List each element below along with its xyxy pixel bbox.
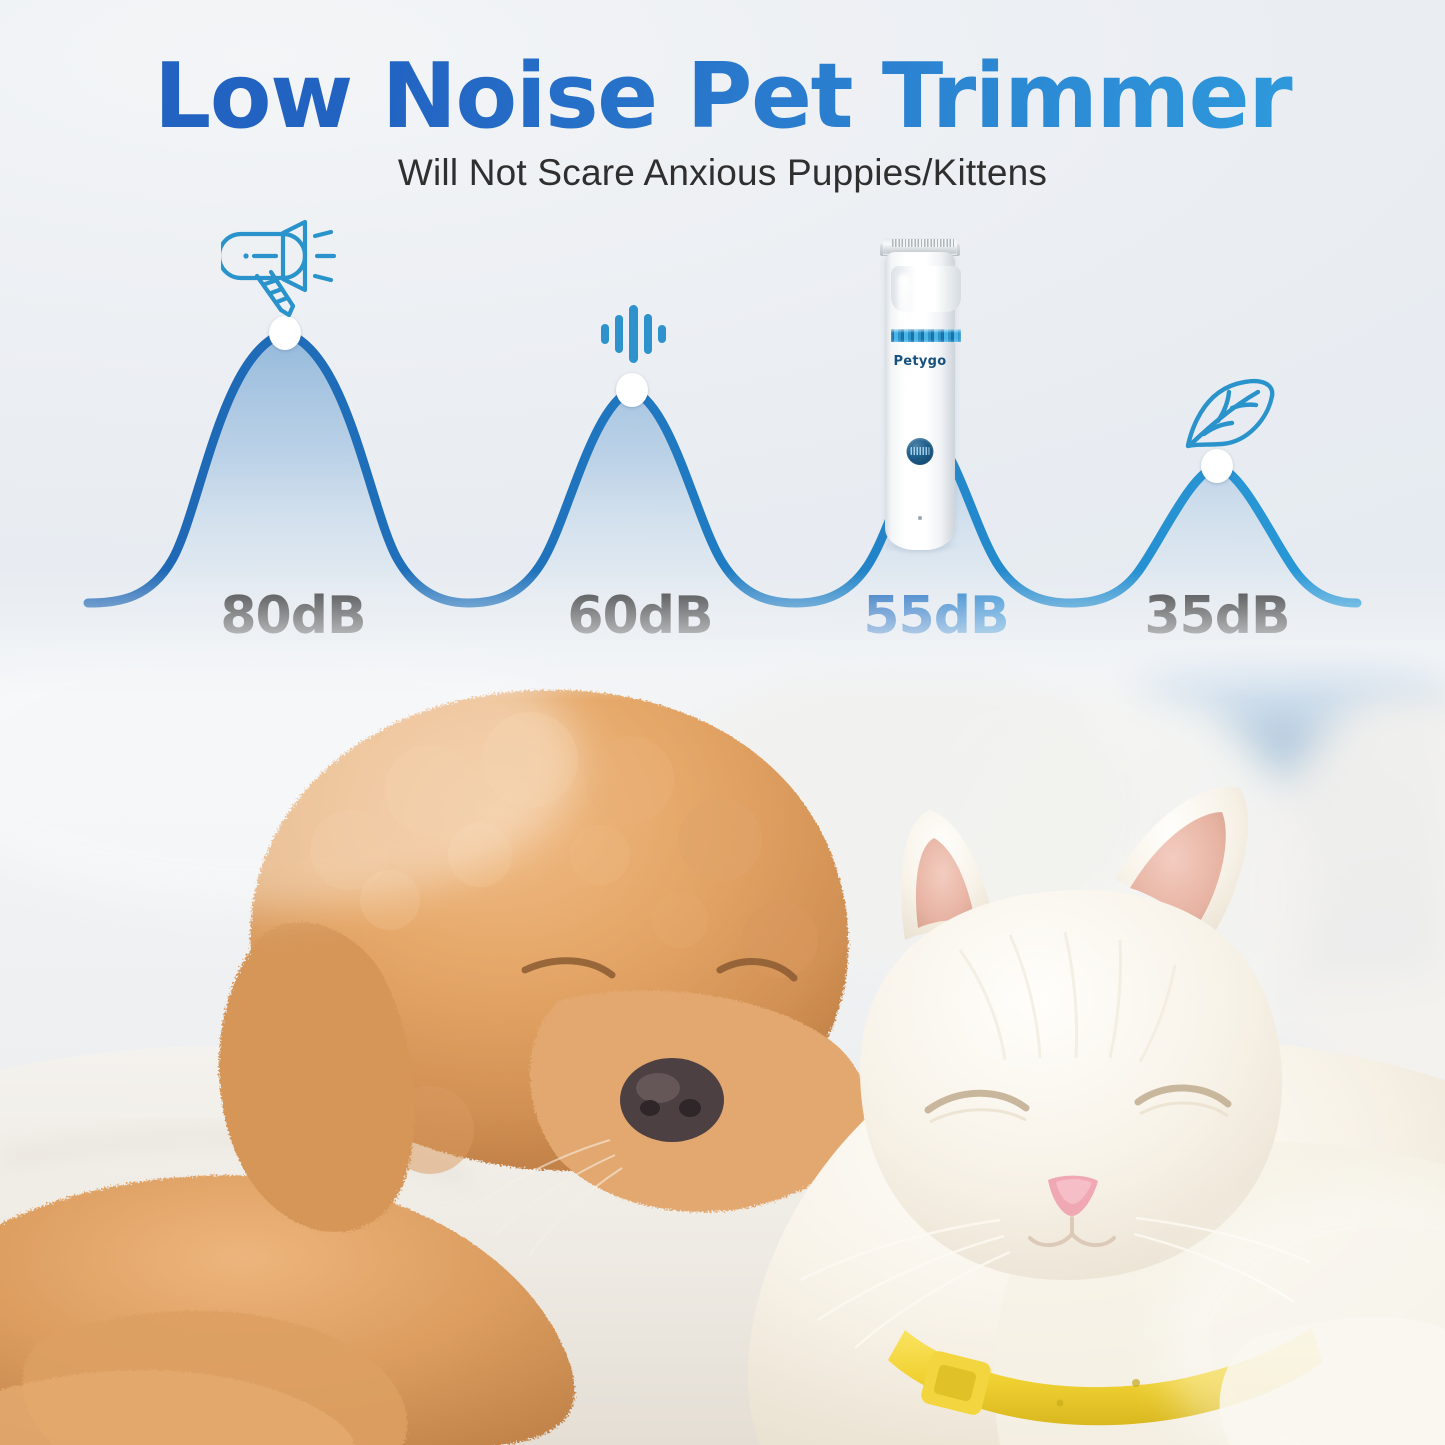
indicator-band (891, 329, 961, 342)
blade-teeth (892, 239, 956, 247)
db-label-35: 35dB (1087, 586, 1347, 646)
pets-photo (0, 640, 1445, 1445)
trimmer-body: Petygo (885, 252, 955, 550)
pet-trimmer-product: Petygo (879, 238, 961, 550)
product-logo: Petygo (885, 354, 955, 369)
db-label-80: 80dB (163, 586, 423, 646)
status-led (918, 516, 922, 520)
hair-dryer-icon (221, 214, 343, 319)
pets-photo-illustration (0, 640, 1445, 1445)
page-subtitle: Will Not Scare Anxious Puppies/Kittens (0, 152, 1445, 194)
dog-nose (620, 1058, 724, 1142)
noise-comparison-panel: Low Noise Pet Trimmer Will Not Scare Anx… (0, 0, 1445, 700)
page-title: Low Noise Pet Trimmer (0, 52, 1445, 142)
db-label-60: 60dB (510, 586, 770, 646)
db-label-55: 55dB (806, 586, 1066, 646)
leaf-icon (1180, 372, 1280, 456)
peak-marker-60db (616, 373, 648, 407)
infographic-page: Low Noise Pet Trimmer Will Not Scare Anx… (0, 0, 1445, 1445)
power-display-button[interactable] (907, 438, 934, 465)
peak-marker-80db (269, 316, 301, 350)
sound-wave-icon (595, 303, 675, 365)
